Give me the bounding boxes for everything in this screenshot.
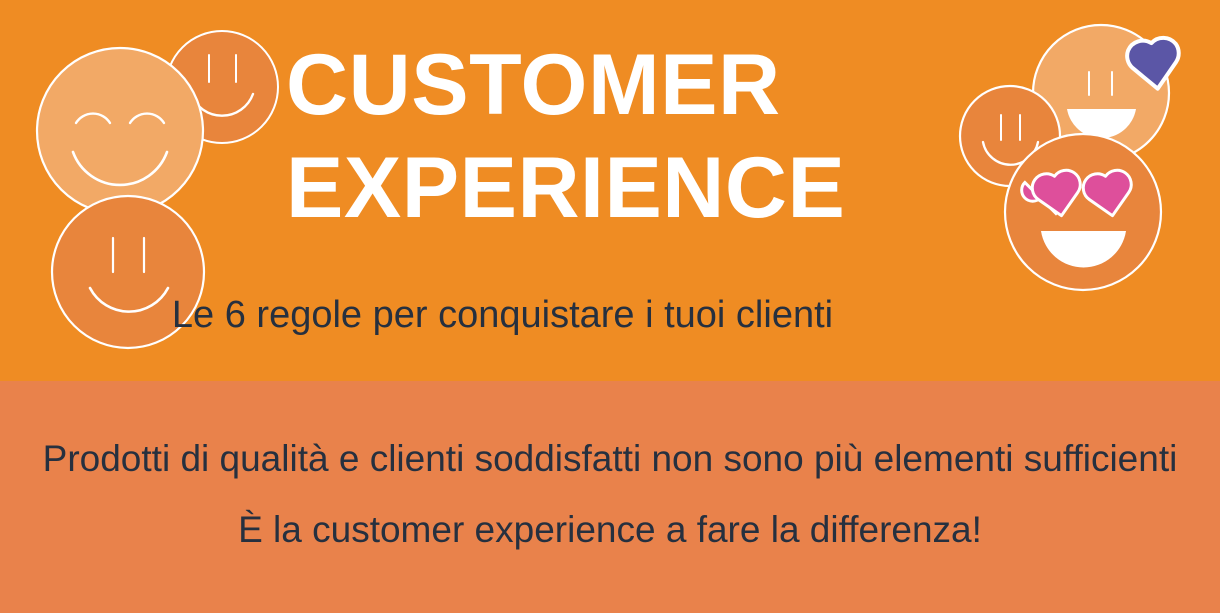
page-title: CUSTOMER EXPERIENCE bbox=[286, 34, 986, 240]
subtitle: Le 6 regole per conquistare i tuoi clien… bbox=[0, 292, 1220, 338]
customer-experience-banner: CUSTOMER EXPERIENCE Le 6 regole per conq… bbox=[0, 0, 1220, 613]
bottom-orange-band bbox=[0, 381, 1220, 613]
band-text-line-2: È la customer experience a fare la diffe… bbox=[0, 508, 1220, 552]
band-text-line-1: Prodotti di qualità e clienti soddisfatt… bbox=[0, 437, 1220, 481]
